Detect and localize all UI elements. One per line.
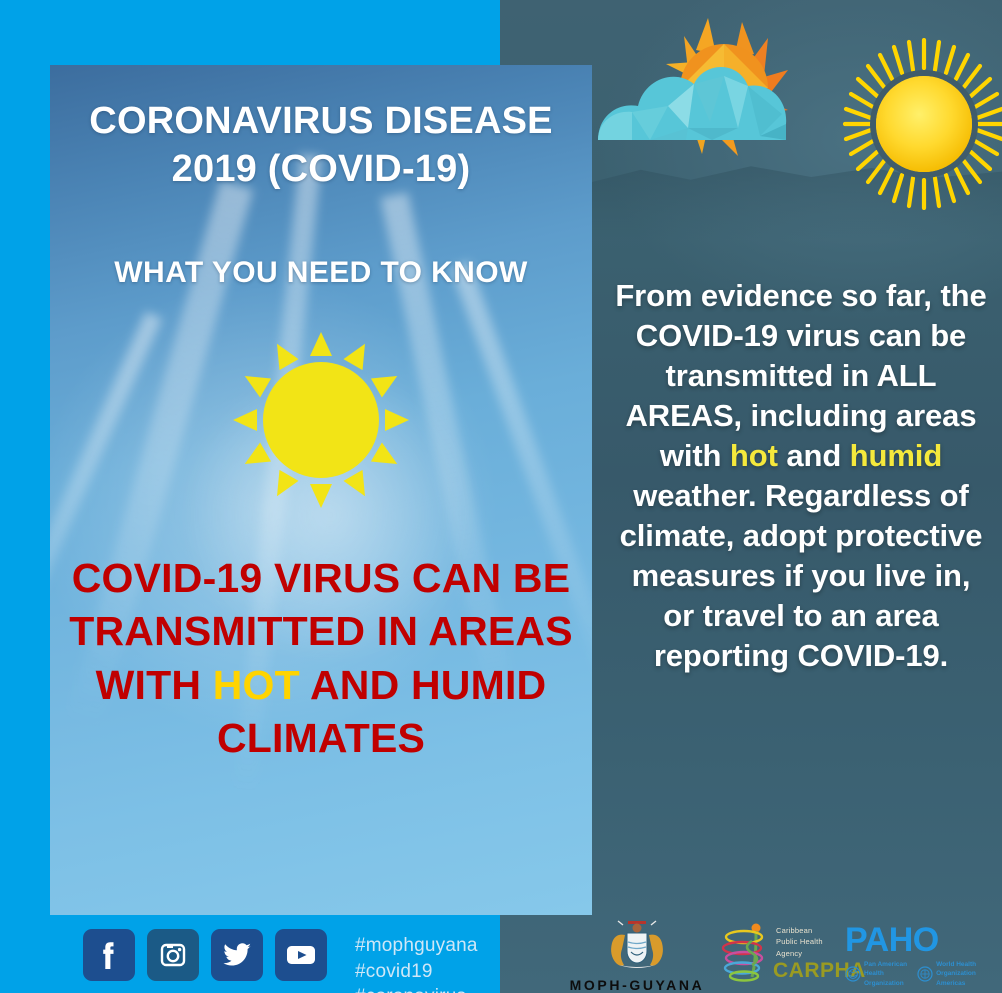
facebook-icon[interactable]: [83, 929, 135, 981]
carpha-line-1: Caribbean: [776, 925, 823, 936]
logo-group: MOPH-GUYANA Caribbean Public Health Agen: [500, 915, 1002, 993]
body-highlight-hot: hot: [730, 438, 778, 473]
hashtag-list: #mophguyana #covid19 #coronavirus: [355, 933, 478, 993]
sun-icon: [233, 332, 409, 508]
hashtag-item: #coronavirus: [355, 984, 478, 993]
paho-sub1-line3: Organization: [864, 979, 907, 988]
page-subtitle: WHAT YOU NEED TO KNOW: [50, 256, 592, 290]
body-highlight-humid: humid: [850, 438, 943, 473]
social-icon-group: [83, 929, 327, 981]
footer-bar: #mophguyana #covid19 #coronavirus: [0, 915, 1002, 993]
paho-logo: PAHO Pan American Health Organization: [845, 923, 1000, 985]
instagram-icon[interactable]: [147, 929, 199, 981]
carpha-line-2: Public Health: [776, 936, 823, 947]
moph-guyana-logo: MOPH-GUYANA: [562, 919, 712, 991]
body-segment-3: weather. Regardless of climate, adopt pr…: [620, 478, 983, 673]
youtube-icon[interactable]: [275, 929, 327, 981]
paho-wordmark: PAHO: [845, 923, 1000, 957]
paho-sub2-line1: World Health: [936, 960, 976, 969]
body-segment-2: and: [778, 438, 850, 473]
paho-sub2-line2: Organization: [936, 969, 976, 978]
twitter-icon[interactable]: [211, 929, 263, 981]
page-title: CORONAVIRUS DISEASE 2019 (COVID-19): [50, 98, 592, 194]
moph-wordmark: MOPH-GUYANA: [562, 977, 712, 993]
headline-highlight-hot: HOT: [213, 662, 300, 708]
hashtag-item: #covid19: [355, 959, 478, 985]
carpha-tagline: Caribbean Public Health Agency: [776, 925, 823, 959]
pan-american-health-organization-emblem: Pan American Health Organization: [845, 960, 907, 988]
paho-sub-logos: Pan American Health Organization World: [845, 960, 1000, 988]
body-message: From evidence so far, the COVID-19 virus…: [612, 276, 990, 676]
paho-sub2-line3: Americas: [936, 979, 976, 988]
paho-sub1-line1: Pan American: [864, 960, 907, 969]
poster-canvas: CORONAVIRUS DISEASE 2019 (COVID-19) WHAT…: [0, 0, 1002, 993]
cloud-and-sun-icon: [592, 10, 852, 185]
bright-sun-icon: [838, 38, 1002, 210]
paho-sub1-line2: Health: [864, 969, 907, 978]
headline-message: COVID-19 VIRUS CAN BE TRANSMITTED IN ARE…: [56, 552, 586, 765]
carpha-logo: Caribbean Public Health Agency CARPHA: [718, 921, 838, 987]
world-health-organization-emblem: World Health Organization Americas: [917, 960, 976, 988]
carpha-line-3: Agency: [776, 948, 823, 959]
hashtag-item: #mophguyana: [355, 933, 478, 959]
